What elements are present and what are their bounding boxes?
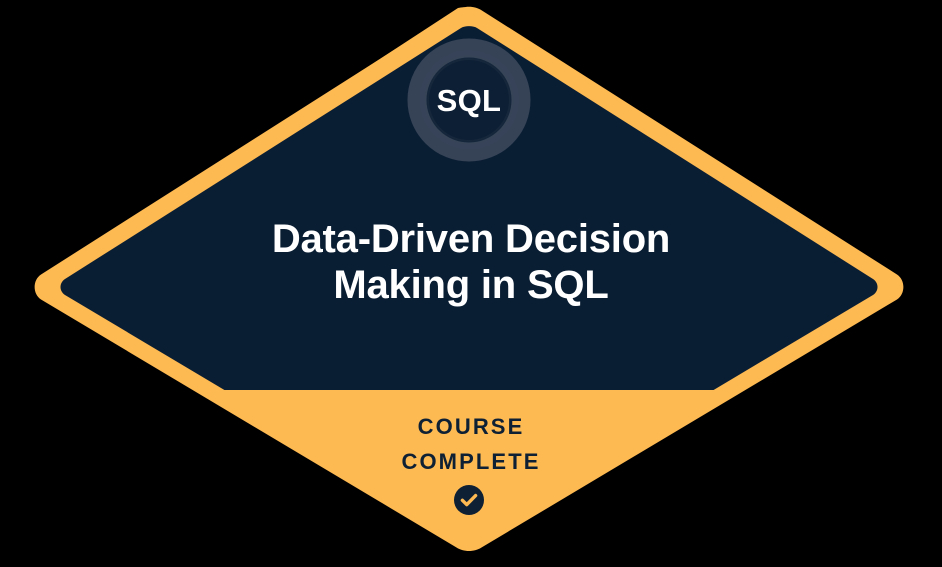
course-completion-badge: SQL Data-Driven Decision Making in SQL C… xyxy=(0,0,942,567)
badge-diamond-graphic xyxy=(0,0,942,567)
